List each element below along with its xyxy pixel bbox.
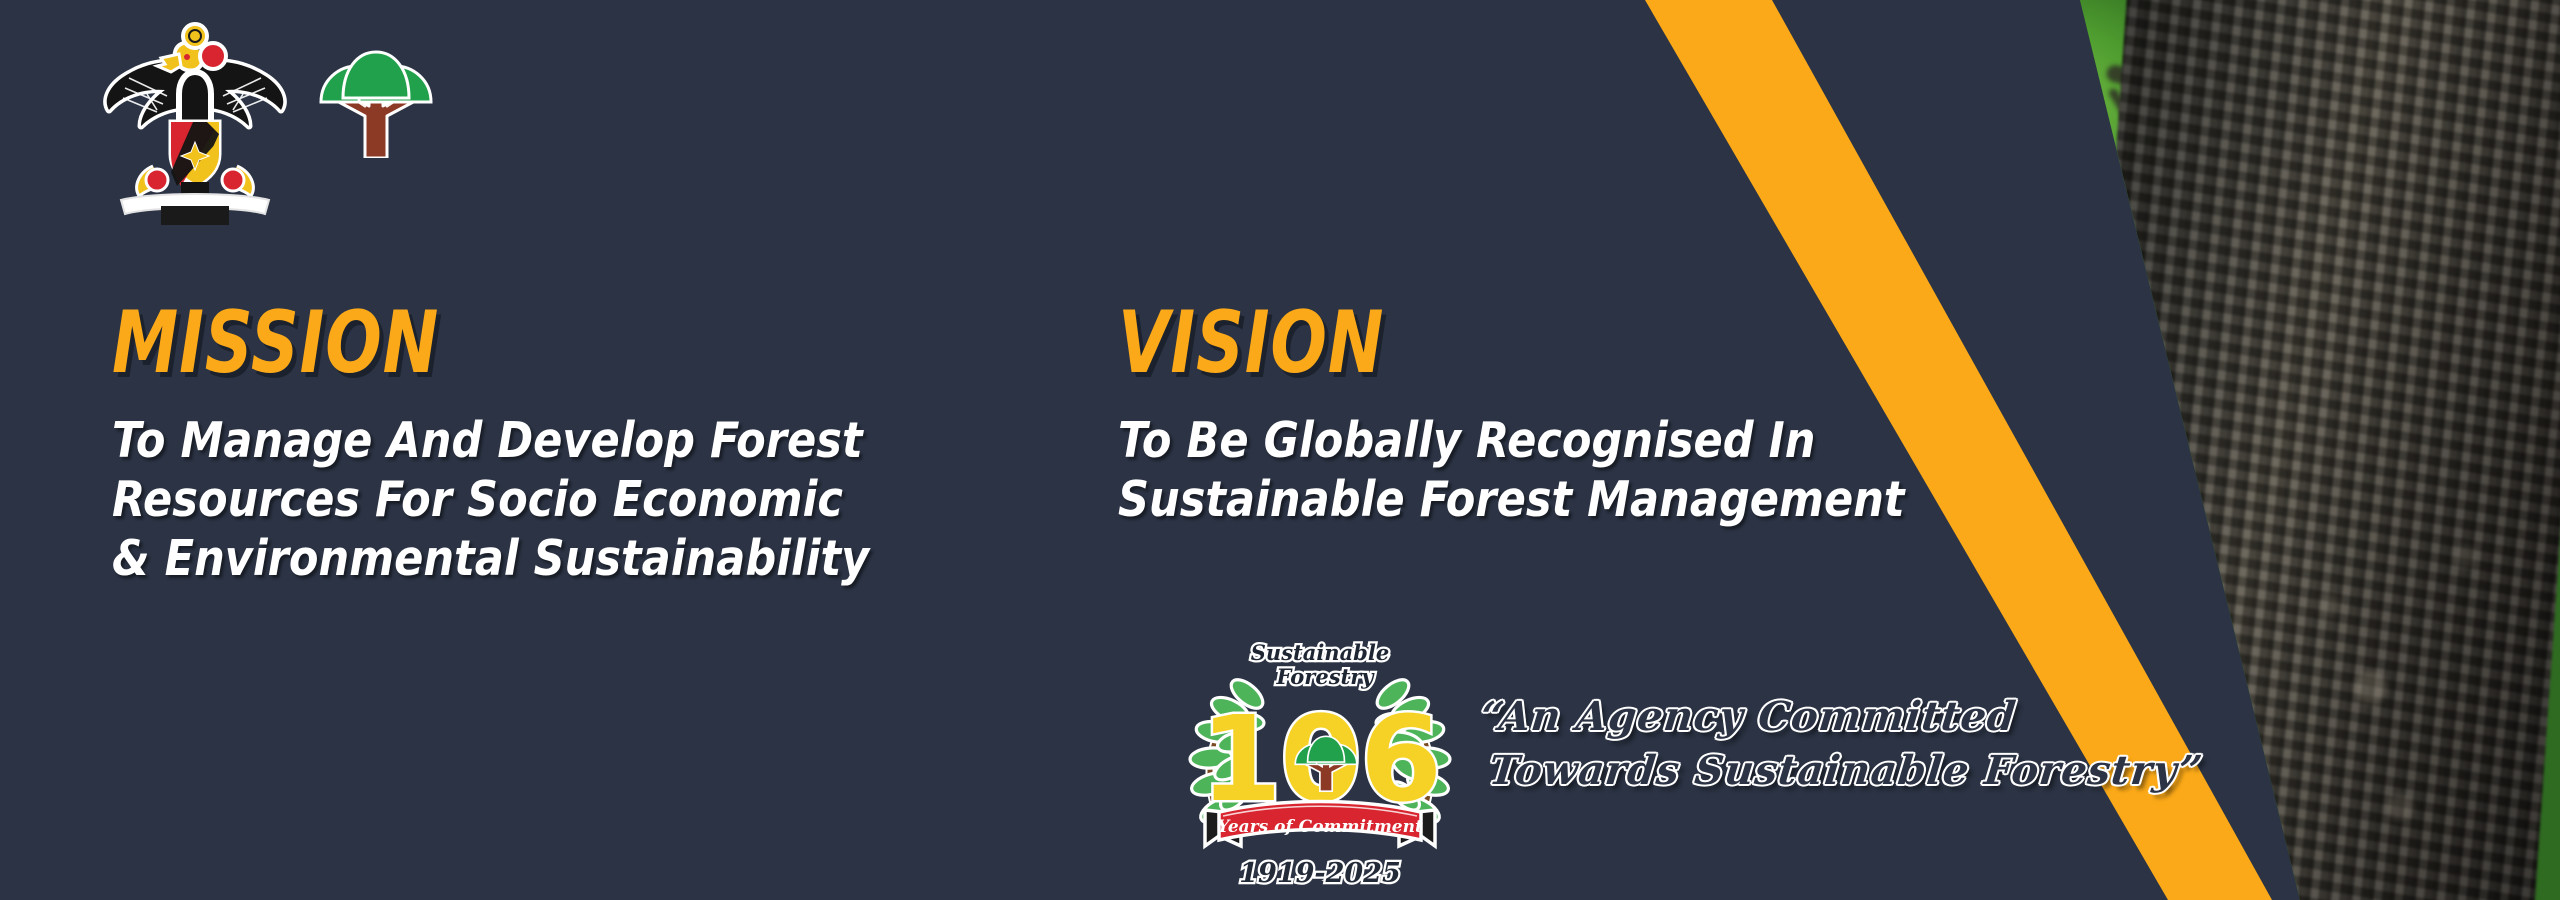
vision-heading: VISION [1118, 300, 1887, 386]
emblem-years: 1919-2025 [1239, 858, 1401, 889]
vision-line-2: Sustainable Forest Management [1118, 471, 1905, 530]
vision-block: VISION To Be Globally Recognised In Sust… [1118, 300, 2012, 530]
emblem-top-text-2: Forestry [1276, 664, 1376, 689]
logo-row [95, 14, 435, 226]
anniversary-106-emblem: Sustainable Forestry 106 Years of Commit… [1185, 632, 1455, 894]
mission-line-3: & Environmental Sustainability [112, 530, 869, 589]
mission-vision-banner: MISSION To Manage And Develop Forest Res… [0, 0, 2560, 900]
sarawak-state-crest [95, 14, 295, 226]
tagline-line-1: “An Agency Committed [1478, 690, 2084, 744]
mission-line-2: Resources For Socio Economic [112, 471, 869, 530]
tagline: “An Agency Committed Towards Sustainable… [1472, 690, 2083, 798]
emblem-ribbon-text: Years of Commitment [1217, 817, 1423, 837]
mission-line-1: To Manage And Develop Forest [112, 412, 869, 471]
mission-block: MISSION To Manage And Develop Forest Res… [112, 300, 973, 588]
mission-heading: MISSION [112, 300, 852, 386]
emblem-top-text-1: Sustainable [1251, 640, 1389, 665]
tagline-line-2: Towards Sustainable Forestry” [1472, 744, 2078, 798]
forest-department-tree-logo [317, 30, 435, 158]
vision-line-1: To Be Globally Recognised In [1118, 412, 1905, 471]
